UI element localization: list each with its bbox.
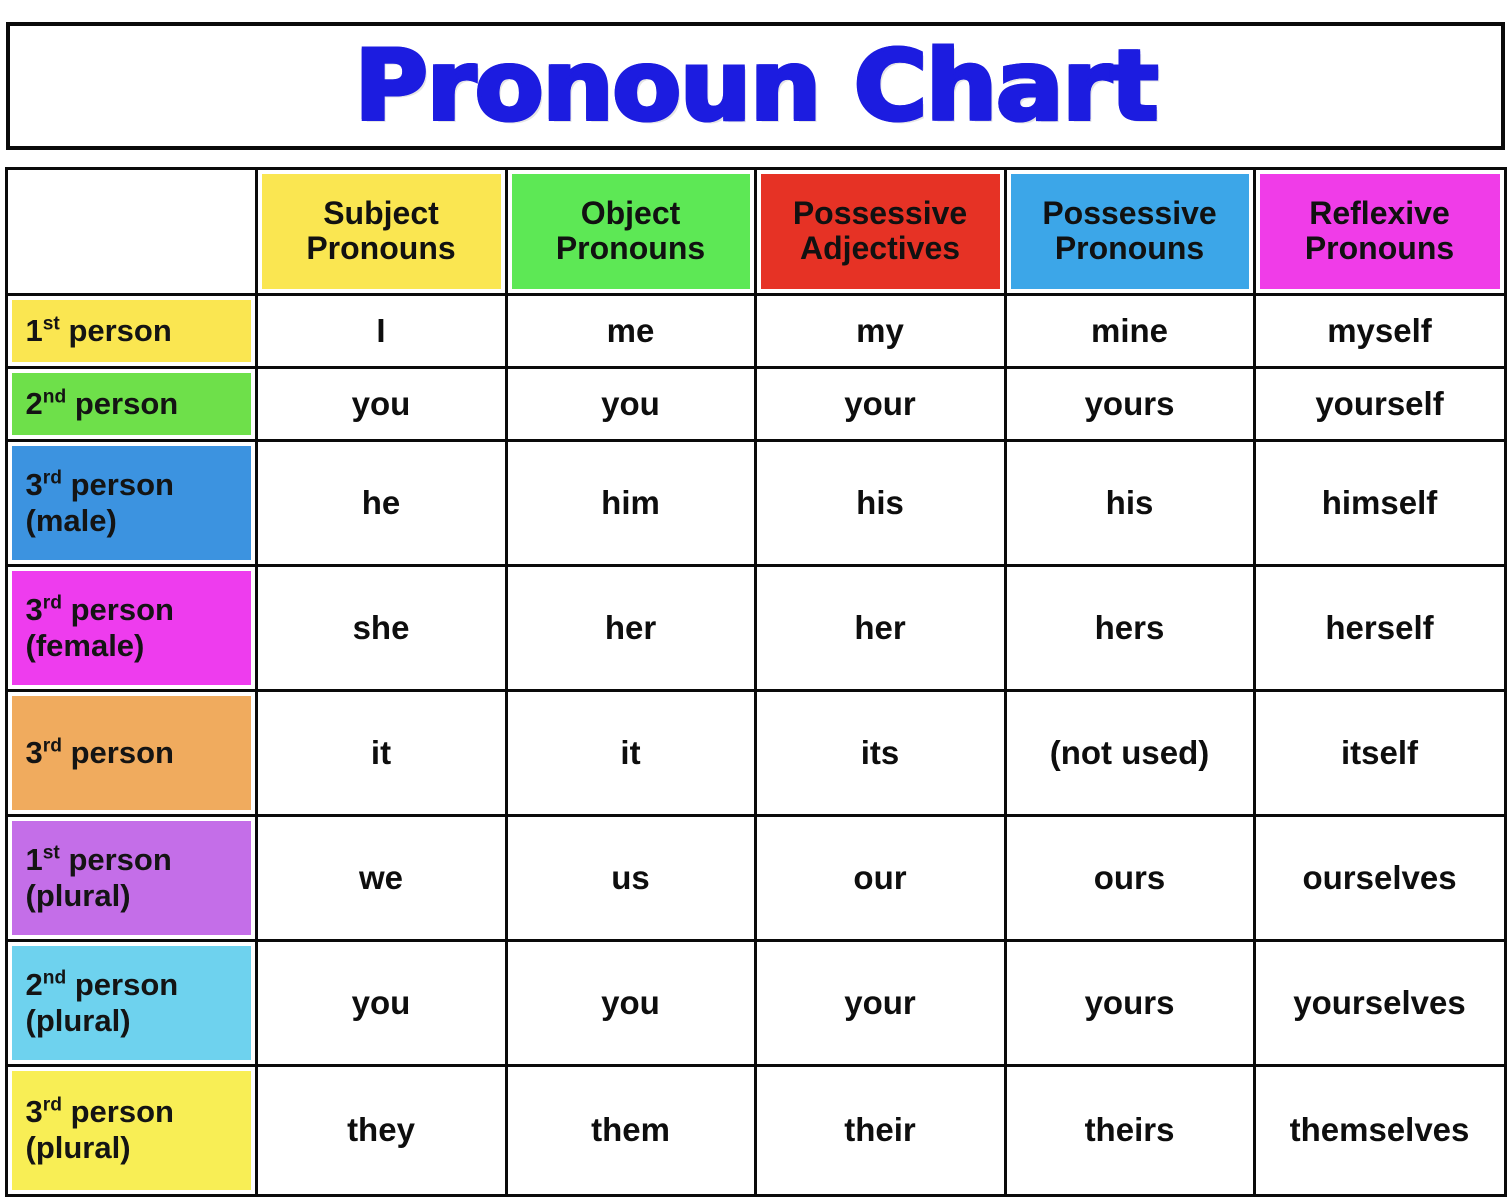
row-header-6: 2nd person(plural): [5, 939, 258, 1067]
table-cell: (not used): [1004, 689, 1256, 817]
column-header-chip: ObjectPronouns: [512, 174, 750, 289]
table-cell: its: [754, 689, 1007, 817]
table-cell: itself: [1253, 689, 1507, 817]
table-cell: yourselves: [1253, 939, 1507, 1067]
row-header-7: 3rd person(plural): [5, 1064, 258, 1197]
row-ordinal-number: 3: [26, 467, 43, 502]
row-ordinal-suffix: rd: [43, 735, 62, 756]
pronoun-table: SubjectPronounsObjectPronounsPossessiveA…: [6, 168, 1505, 1198]
table-cell: you: [255, 366, 508, 442]
table-cell: ours: [1004, 814, 1256, 942]
row-header-qualifier: (plural): [26, 878, 131, 914]
row-header-chip: 3rd person(female): [12, 571, 251, 685]
page-title: Pronoun Chart: [354, 38, 1157, 134]
column-header-line1: Reflexive: [1309, 196, 1450, 231]
row-header-0: 1st person: [5, 293, 258, 369]
row-person-word: person: [62, 592, 174, 627]
table-cell: themselves: [1253, 1064, 1507, 1197]
pronoun-chart-page: Pronoun Chart SubjectPronounsObjectProno…: [0, 0, 1511, 1200]
column-header-chip: ReflexivePronouns: [1260, 174, 1500, 289]
row-header-chip: 3rd person: [12, 696, 251, 810]
row-person-word: person: [66, 386, 178, 421]
row-header-person: 1st person: [26, 313, 172, 349]
table-cell: I: [255, 293, 508, 369]
column-header-line2: Pronouns: [306, 231, 455, 266]
title-banner: Pronoun Chart: [6, 22, 1505, 150]
table-cell: our: [754, 814, 1007, 942]
top-margin: [0, 0, 1511, 22]
row-header-qualifier: (female): [26, 628, 145, 664]
row-ordinal-suffix: nd: [43, 968, 66, 989]
column-header-chip: PossessivePronouns: [1011, 174, 1249, 289]
row-ordinal-suffix: rd: [43, 593, 62, 614]
row-ordinal-suffix: st: [43, 843, 60, 864]
row-header-person: 2nd person: [26, 386, 179, 422]
row-ordinal-suffix: nd: [43, 386, 66, 407]
row-header-1: 2nd person: [5, 366, 258, 442]
row-header-person: 2nd person: [26, 967, 179, 1003]
row-header-4: 3rd person: [5, 689, 258, 817]
row-ordinal-number: 3: [26, 1094, 43, 1129]
table-cell: your: [754, 939, 1007, 1067]
table-cell: theirs: [1004, 1064, 1256, 1197]
table-cell: him: [505, 439, 757, 567]
column-header-3: PossessiveAdjectives: [754, 167, 1007, 296]
table-cell: she: [255, 564, 508, 692]
row-header-qualifier: (plural): [26, 1130, 131, 1166]
row-header-3: 3rd person(female): [5, 564, 258, 692]
table-cell: me: [505, 293, 757, 369]
row-ordinal-number: 3: [26, 592, 43, 627]
row-person-word: person: [60, 313, 172, 348]
column-header-4: PossessivePronouns: [1004, 167, 1256, 296]
row-header-chip: 3rd person(plural): [12, 1071, 251, 1190]
row-ordinal-suffix: st: [43, 313, 60, 334]
column-header-line1: Subject: [323, 196, 439, 231]
column-header-line1: Possessive: [1042, 196, 1216, 231]
row-header-person: 1st person: [26, 842, 172, 878]
row-person-word: person: [62, 1094, 174, 1129]
table-cell: ourselves: [1253, 814, 1507, 942]
row-header-chip: 1st person(plural): [12, 821, 251, 935]
row-person-word: person: [62, 467, 174, 502]
column-header-5: ReflexivePronouns: [1253, 167, 1507, 296]
row-header-qualifier: (plural): [26, 1003, 131, 1039]
row-ordinal-number: 1: [26, 313, 43, 348]
table-cell: them: [505, 1064, 757, 1197]
column-header-chip: SubjectPronouns: [262, 174, 501, 289]
row-header-chip: 1st person: [12, 300, 251, 362]
table-cell: your: [754, 366, 1007, 442]
column-header-line1: Possessive: [793, 196, 967, 231]
row-ordinal-number: 3: [26, 735, 43, 770]
table-cell: yours: [1004, 366, 1256, 442]
row-header-qualifier: (male): [26, 503, 117, 539]
column-header-line2: Pronouns: [556, 231, 705, 266]
row-header-chip: 3rd person(male): [12, 446, 251, 560]
table-cell: his: [754, 439, 1007, 567]
column-header-2: ObjectPronouns: [505, 167, 757, 296]
row-header-chip: 2nd person(plural): [12, 946, 251, 1060]
table-cell: us: [505, 814, 757, 942]
table-cell: himself: [1253, 439, 1507, 567]
table-cell: myself: [1253, 293, 1507, 369]
column-header-1: SubjectPronouns: [255, 167, 508, 296]
column-header-line2: Adjectives: [800, 231, 960, 266]
column-header-chip: PossessiveAdjectives: [761, 174, 1000, 289]
row-ordinal-suffix: rd: [43, 468, 62, 489]
row-ordinal-number: 2: [26, 386, 43, 421]
row-person-word: person: [60, 842, 172, 877]
table-cell: you: [505, 366, 757, 442]
row-person-word: person: [66, 967, 178, 1002]
column-header-line2: Pronouns: [1055, 231, 1204, 266]
row-ordinal-number: 2: [26, 967, 43, 1002]
row-ordinal-number: 1: [26, 842, 43, 877]
column-header-line1: Object: [581, 196, 681, 231]
table-corner-cell: [5, 167, 258, 296]
table-cell: my: [754, 293, 1007, 369]
row-header-person: 3rd person: [26, 592, 174, 628]
column-header-line2: Pronouns: [1305, 231, 1454, 266]
table-cell: we: [255, 814, 508, 942]
row-header-2: 3rd person(male): [5, 439, 258, 567]
table-cell: mine: [1004, 293, 1256, 369]
table-cell: you: [255, 939, 508, 1067]
table-cell: yourself: [1253, 366, 1507, 442]
row-header-person: 3rd person: [26, 1094, 174, 1130]
table-cell: her: [505, 564, 757, 692]
row-ordinal-suffix: rd: [43, 1095, 62, 1116]
table-cell: hers: [1004, 564, 1256, 692]
table-cell: his: [1004, 439, 1256, 567]
table-cell: it: [255, 689, 508, 817]
row-header-person: 3rd person: [26, 735, 174, 771]
table-cell: he: [255, 439, 508, 567]
table-cell: herself: [1253, 564, 1507, 692]
row-person-word: person: [62, 735, 174, 770]
table-cell: her: [754, 564, 1007, 692]
row-header-5: 1st person(plural): [5, 814, 258, 942]
table-cell: they: [255, 1064, 508, 1197]
table-cell: it: [505, 689, 757, 817]
row-header-chip: 2nd person: [12, 373, 251, 435]
row-header-person: 3rd person: [26, 467, 174, 503]
table-cell: their: [754, 1064, 1007, 1197]
table-cell: you: [505, 939, 757, 1067]
table-cell: yours: [1004, 939, 1256, 1067]
